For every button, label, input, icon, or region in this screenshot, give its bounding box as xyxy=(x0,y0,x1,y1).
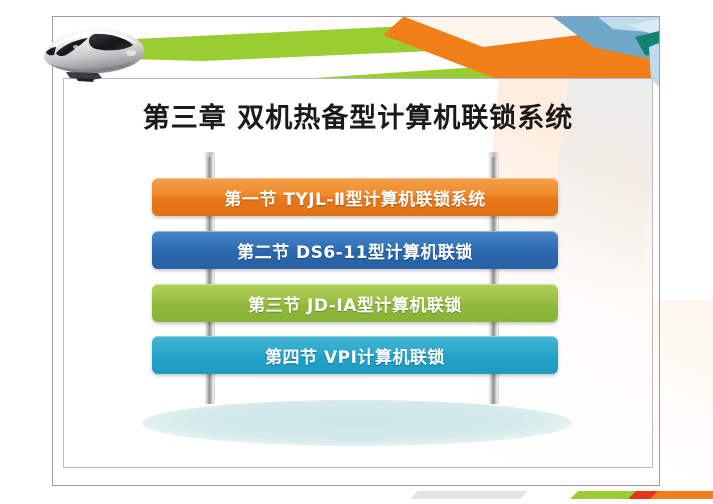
signpost-left-cap xyxy=(204,152,215,157)
sign-button-section-1[interactable]: 第一节 TYJL-Ⅱ型计算机联锁系统 xyxy=(152,178,558,216)
signpost-right-cap xyxy=(488,152,499,157)
sign-button-section-4[interactable]: 第四节 VPI计算机联锁 xyxy=(152,336,558,374)
sign-button-section-2[interactable]: 第二节 DS6-11型计算机联锁 xyxy=(152,231,558,269)
slide-canvas: 第三章 双机热备型计算机联锁系统 第一节 TYJL-Ⅱ型计算机联锁系统 第二节 … xyxy=(0,0,713,504)
ground-shadow-ellipse xyxy=(142,400,572,446)
page-title: 第三章 双机热备型计算机联锁系统 xyxy=(63,96,653,135)
high-speed-train-icon xyxy=(36,22,148,84)
bottom-decorative-strip xyxy=(400,485,713,504)
sign-button-section-3[interactable]: 第三节 JD-IA型计算机联锁 xyxy=(152,284,558,322)
